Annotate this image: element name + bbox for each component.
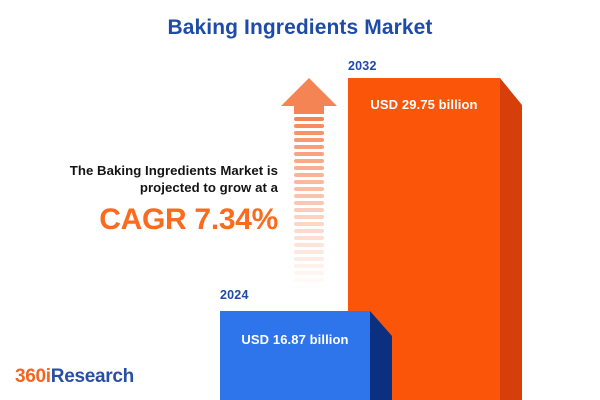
page-title: Baking Ingredients Market xyxy=(0,16,600,40)
arrow-stripe xyxy=(294,166,324,170)
arrow-stripes xyxy=(294,117,324,290)
statement-block: The Baking Ingredients Market is project… xyxy=(22,162,278,237)
arrow-stripe xyxy=(294,201,324,205)
arrow-stripe xyxy=(294,124,324,128)
arrow-stripe xyxy=(294,243,324,247)
arrow-stripe xyxy=(294,250,324,254)
arrow-stripe xyxy=(294,131,324,135)
up-arrow-icon xyxy=(281,78,337,290)
arrow-stripe xyxy=(294,145,324,149)
arrow-stripe xyxy=(294,257,324,261)
arrow-stripe xyxy=(294,215,324,219)
arrow-stripe xyxy=(294,264,324,268)
arrow-stripe xyxy=(294,159,324,163)
arrow-stripe xyxy=(294,180,324,184)
arrow-stripe xyxy=(294,236,324,240)
arrow-stripe xyxy=(294,208,324,212)
arrow-neck xyxy=(294,105,324,114)
brand-logo: 360iResearch xyxy=(15,366,134,388)
statement-line-2: projected to grow at a xyxy=(140,180,278,195)
brand-logo-blue-part: Research xyxy=(51,366,134,387)
statement-text: The Baking Ingredients Market is project… xyxy=(22,162,278,196)
arrow-stripe xyxy=(294,194,324,198)
infographic-canvas: Baking Ingredients Market The Baking Ing… xyxy=(0,0,600,400)
year-label-2032: 2032 xyxy=(348,59,377,73)
arrow-stripe xyxy=(294,152,324,156)
arrow-stripe xyxy=(294,138,324,142)
bar-2024-value-label: USD 16.87 billion xyxy=(220,332,370,347)
statement-line-1: The Baking Ingredients Market is xyxy=(70,163,278,178)
arrow-stripe xyxy=(294,278,324,282)
arrow-stripe xyxy=(294,173,324,177)
arrow-stripe xyxy=(294,117,324,121)
bar-2032-value-label: USD 29.75 billion xyxy=(348,97,500,112)
cagr-value: CAGR 7.34% xyxy=(22,203,278,237)
bar-2024-front-face xyxy=(220,311,370,400)
arrow-stripe xyxy=(294,285,324,289)
brand-logo-orange-part: 360i xyxy=(15,366,51,387)
arrow-stripe xyxy=(294,187,324,191)
year-label-2024: 2024 xyxy=(220,288,249,302)
arrow-stripe xyxy=(294,271,324,275)
arrow-stripe xyxy=(294,229,324,233)
bar-2024: USD 16.87 billion xyxy=(220,311,370,400)
arrow-stripe xyxy=(294,222,324,226)
bar-2032-side-face xyxy=(500,78,522,400)
arrow-head-icon xyxy=(281,78,337,106)
